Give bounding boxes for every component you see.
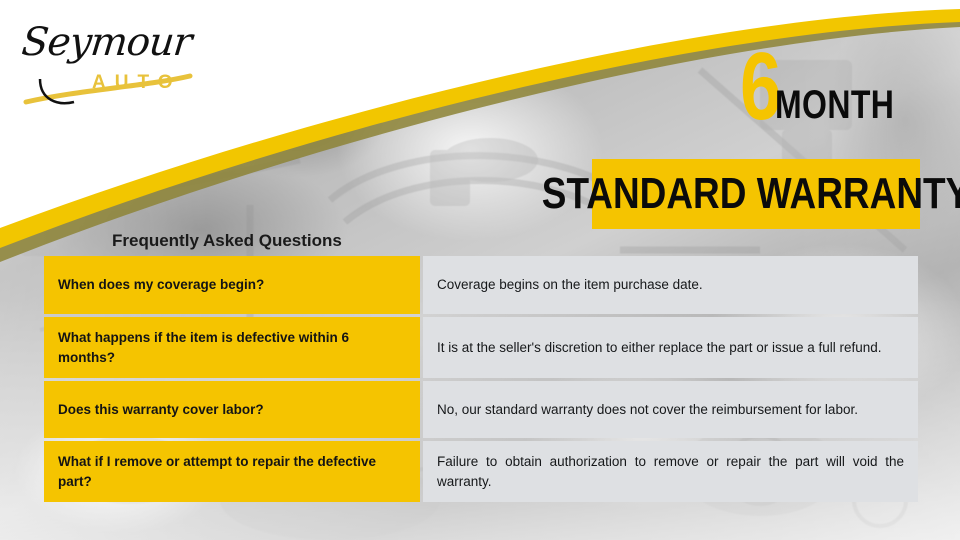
- warranty-duration: 6 MONTH: [740, 48, 925, 127]
- faq-answer-text: No, our standard warranty does not cover…: [437, 400, 904, 420]
- faq-answer-cell: Failure to obtain authorization to remov…: [423, 441, 918, 502]
- logo-subtext: AUTO: [92, 72, 181, 94]
- table-row: What if I remove or attempt to repair th…: [44, 441, 918, 502]
- faq-answer-text: It is at the seller's discretion to eith…: [437, 338, 904, 358]
- standard-warranty-banner: STANDARD WARRANTY: [592, 159, 920, 229]
- duration-unit: MONTH: [775, 87, 894, 123]
- faq-question-text: Does this warranty cover labor?: [58, 400, 264, 419]
- faq-table: When does my coverage begin? Coverage be…: [44, 256, 918, 502]
- page-title: Frequently Asked Questions: [112, 231, 342, 251]
- faq-answer-cell: Coverage begins on the item purchase dat…: [423, 256, 918, 314]
- faq-question-text: What happens if the item is defective wi…: [58, 328, 404, 366]
- faq-question-text: What if I remove or attempt to repair th…: [58, 452, 404, 490]
- faq-question-cell: What happens if the item is defective wi…: [44, 317, 420, 378]
- faq-answer-text: Failure to obtain authorization to remov…: [437, 452, 904, 491]
- faq-answer-text: Coverage begins on the item purchase dat…: [437, 275, 904, 295]
- banner-title: STANDARD WARRANTY: [542, 169, 960, 219]
- faq-answer-cell: No, our standard warranty does not cover…: [423, 381, 918, 438]
- logo-underline-swoosh: [18, 16, 208, 108]
- table-row: When does my coverage begin? Coverage be…: [44, 256, 918, 314]
- faq-question-text: When does my coverage begin?: [58, 275, 264, 294]
- faq-answer-cell: It is at the seller's discretion to eith…: [423, 317, 918, 378]
- faq-question-cell: When does my coverage begin?: [44, 256, 420, 314]
- table-row: Does this warranty cover labor? No, our …: [44, 381, 918, 438]
- warranty-slide: Seymour AUTO 6 MONTH STANDARD WARRANTY F…: [0, 0, 960, 540]
- faq-question-cell: What if I remove or attempt to repair th…: [44, 441, 420, 502]
- brand-logo: Seymour AUTO: [18, 16, 208, 108]
- faq-question-cell: Does this warranty cover labor?: [44, 381, 420, 438]
- table-row: What happens if the item is defective wi…: [44, 317, 918, 378]
